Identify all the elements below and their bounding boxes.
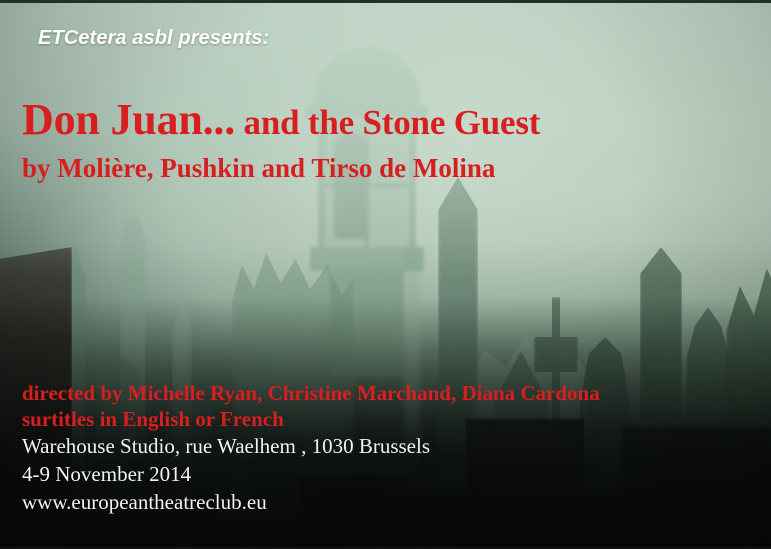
credit-dates: 4-9 November 2014 xyxy=(22,460,752,488)
credit-surtitles: surtitles in English or French xyxy=(22,406,752,432)
credit-venue: Warehouse Studio, rue Waelhem , 1030 Bru… xyxy=(22,432,752,460)
credit-website[interactable]: www.europeantheatreclub.eu xyxy=(22,488,752,516)
presenter-line: ETCetera asbl presents: xyxy=(38,27,269,50)
poster: ETCetera asbl presents: Don Juan... and … xyxy=(0,0,771,549)
title-subtitle: and the Stone Guest xyxy=(235,103,540,142)
authors-byline: by Molière, Pushkin and Tirso de Molina xyxy=(22,153,495,184)
credits-block: directed by Michelle Ryan, Christine Mar… xyxy=(22,380,752,516)
title-main: Don Juan... xyxy=(22,95,235,144)
credit-directors: directed by Michelle Ryan, Christine Mar… xyxy=(22,380,752,406)
poster-text-layer: ETCetera asbl presents: Don Juan... and … xyxy=(0,3,771,547)
page-title: Don Juan... and the Stone Guest xyxy=(22,98,540,142)
